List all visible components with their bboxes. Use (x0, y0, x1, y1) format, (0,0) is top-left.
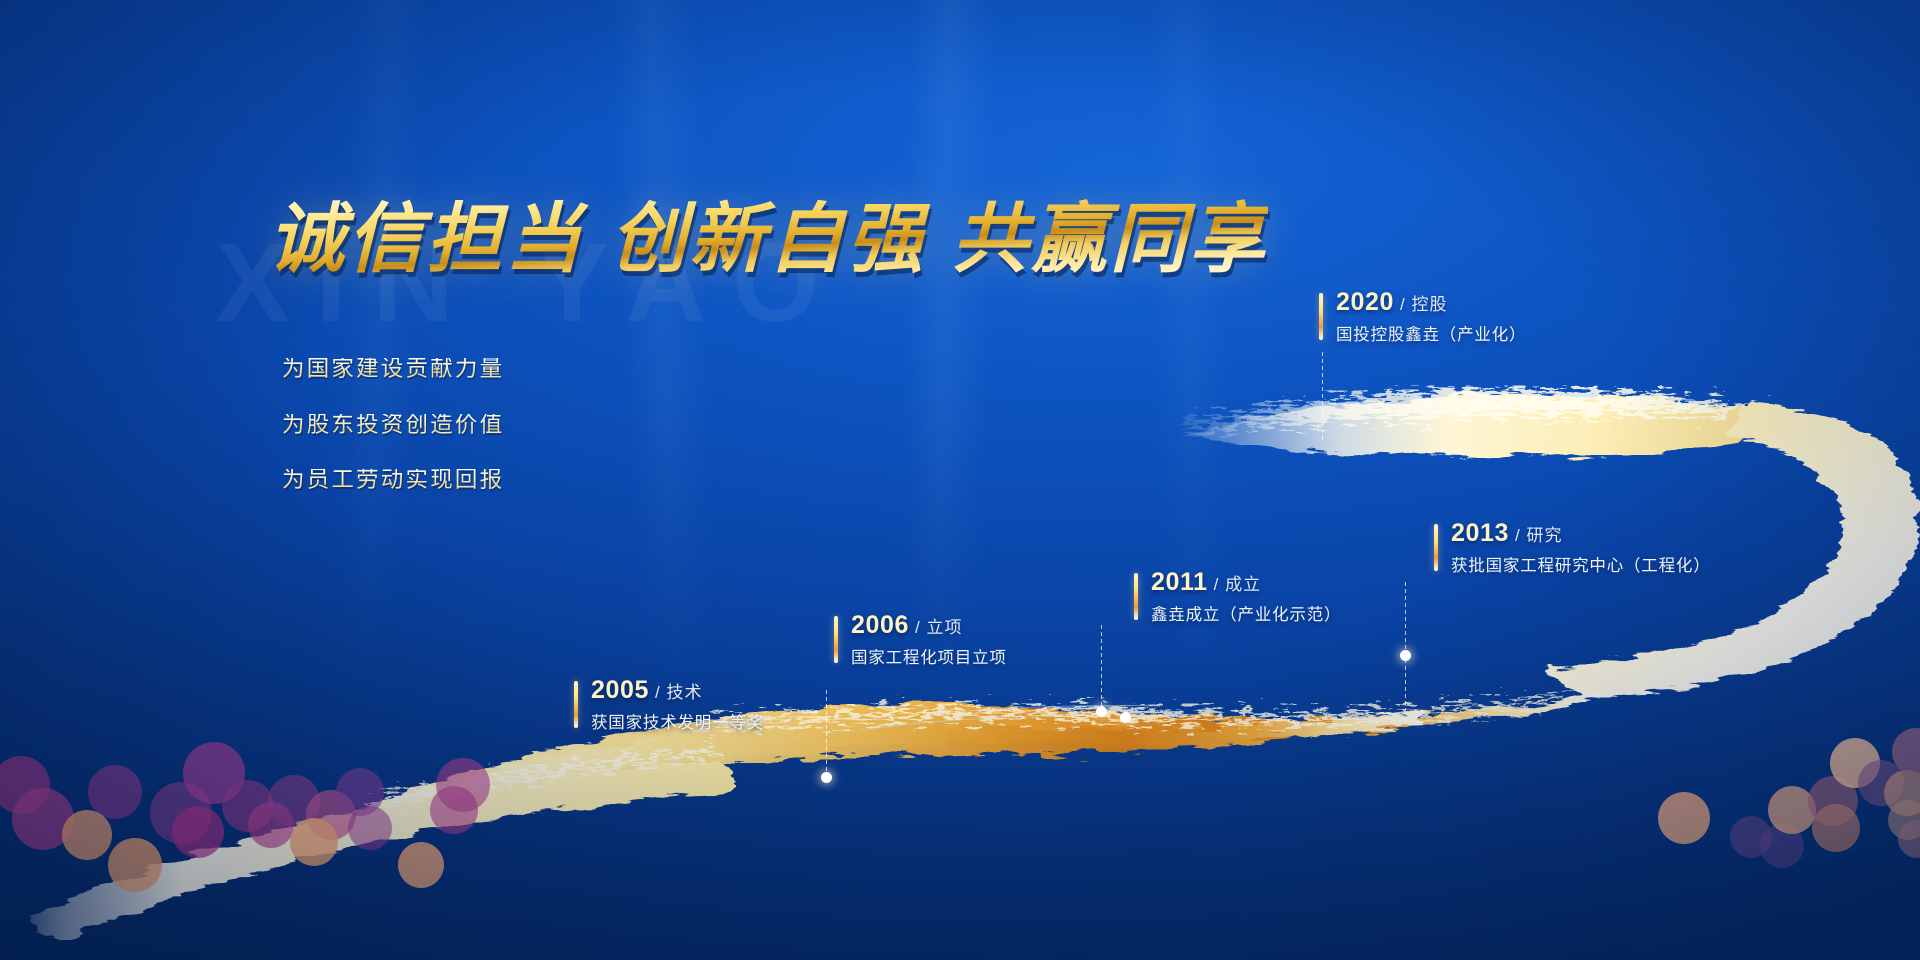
milestone-text: 2011/ 成立 鑫垚成立（产业化示范） (1134, 570, 1341, 624)
timeline-dot-2005[interactable] (821, 772, 832, 783)
timeline-dot-2006[interactable] (1096, 706, 1107, 717)
timeline-dot-2011[interactable] (1120, 712, 1131, 723)
milestone-year: 2005/ 技术 (591, 678, 764, 703)
milestone-text: 2005/ 技术 获国家技术发明一等奖 (574, 678, 764, 732)
headline-part-1: 诚信担当 (268, 194, 584, 283)
milestone-description: 国家工程化项目立项 (851, 650, 1007, 667)
milestone-text: 2020/ 控股 国投控股鑫垚（产业化） (1319, 290, 1526, 344)
subtitle-block: 为国家建设贡献力量 为股东投资创造价值 为员工劳动实现回报 (282, 358, 504, 492)
milestone-2020[interactable]: 2020/ 控股 国投控股鑫垚（产业化） (1319, 290, 1526, 344)
milestone-description: 获国家技术发明一等奖 (591, 715, 764, 732)
leader-line-2006 (1101, 625, 1102, 712)
milestone-description: 鑫垚成立（产业化示范） (1151, 607, 1341, 624)
subtitle-line-2: 为股东投资创造价值 (282, 414, 504, 437)
leader-line-2011 (1405, 582, 1406, 710)
banner-canvas: XIN YAO 诚信担当创新自强共赢同享 为国家建设贡献力量 为股东投资创造价值… (0, 0, 1920, 960)
milestone-category: / 控股 (1394, 295, 1447, 314)
milestone-year: 2011/ 成立 (1151, 570, 1341, 595)
milestone-accent-bar (834, 616, 838, 663)
milestone-year: 2006/ 立项 (851, 613, 1007, 638)
headline-part-2: 创新自强 (610, 194, 926, 283)
milestone-text: 2013/ 研究 获批国家工程研究中心（工程化） (1434, 521, 1711, 575)
milestone-year: 2013/ 研究 (1451, 521, 1711, 546)
milestone-2013[interactable]: 2013/ 研究 获批国家工程研究中心（工程化） (1434, 521, 1711, 575)
milestone-description: 获批国家工程研究中心（工程化） (1451, 558, 1711, 575)
milestone-category: / 研究 (1509, 526, 1562, 545)
milestone-text: 2006/ 立项 国家工程化项目立项 (834, 613, 1007, 667)
milestone-category: / 技术 (649, 683, 702, 702)
milestone-accent-bar (574, 681, 578, 728)
milestone-year: 2020/ 控股 (1336, 290, 1526, 315)
milestone-category: / 立项 (909, 618, 962, 637)
milestone-description: 国投控股鑫垚（产业化） (1336, 327, 1526, 344)
milestone-category: / 成立 (1208, 575, 1261, 594)
milestone-accent-bar (1134, 573, 1138, 620)
milestone-accent-bar (1319, 293, 1323, 340)
subtitle-line-3: 为员工劳动实现回报 (282, 469, 504, 492)
subtitle-line-1: 为国家建设贡献力量 (282, 358, 504, 381)
headline-part-3: 共赢同享 (952, 194, 1268, 283)
timeline-dot-2013[interactable] (1400, 650, 1411, 661)
page-title: 诚信担当创新自强共赢同享 (268, 196, 1268, 281)
leader-line-2020 (1322, 352, 1323, 440)
milestone-2006[interactable]: 2006/ 立项 国家工程化项目立项 (834, 613, 1007, 667)
milestone-accent-bar (1434, 524, 1438, 571)
leader-line-2005 (826, 690, 827, 778)
milestone-2011[interactable]: 2011/ 成立 鑫垚成立（产业化示范） (1134, 570, 1341, 624)
milestone-2005[interactable]: 2005/ 技术 获国家技术发明一等奖 (574, 678, 764, 732)
